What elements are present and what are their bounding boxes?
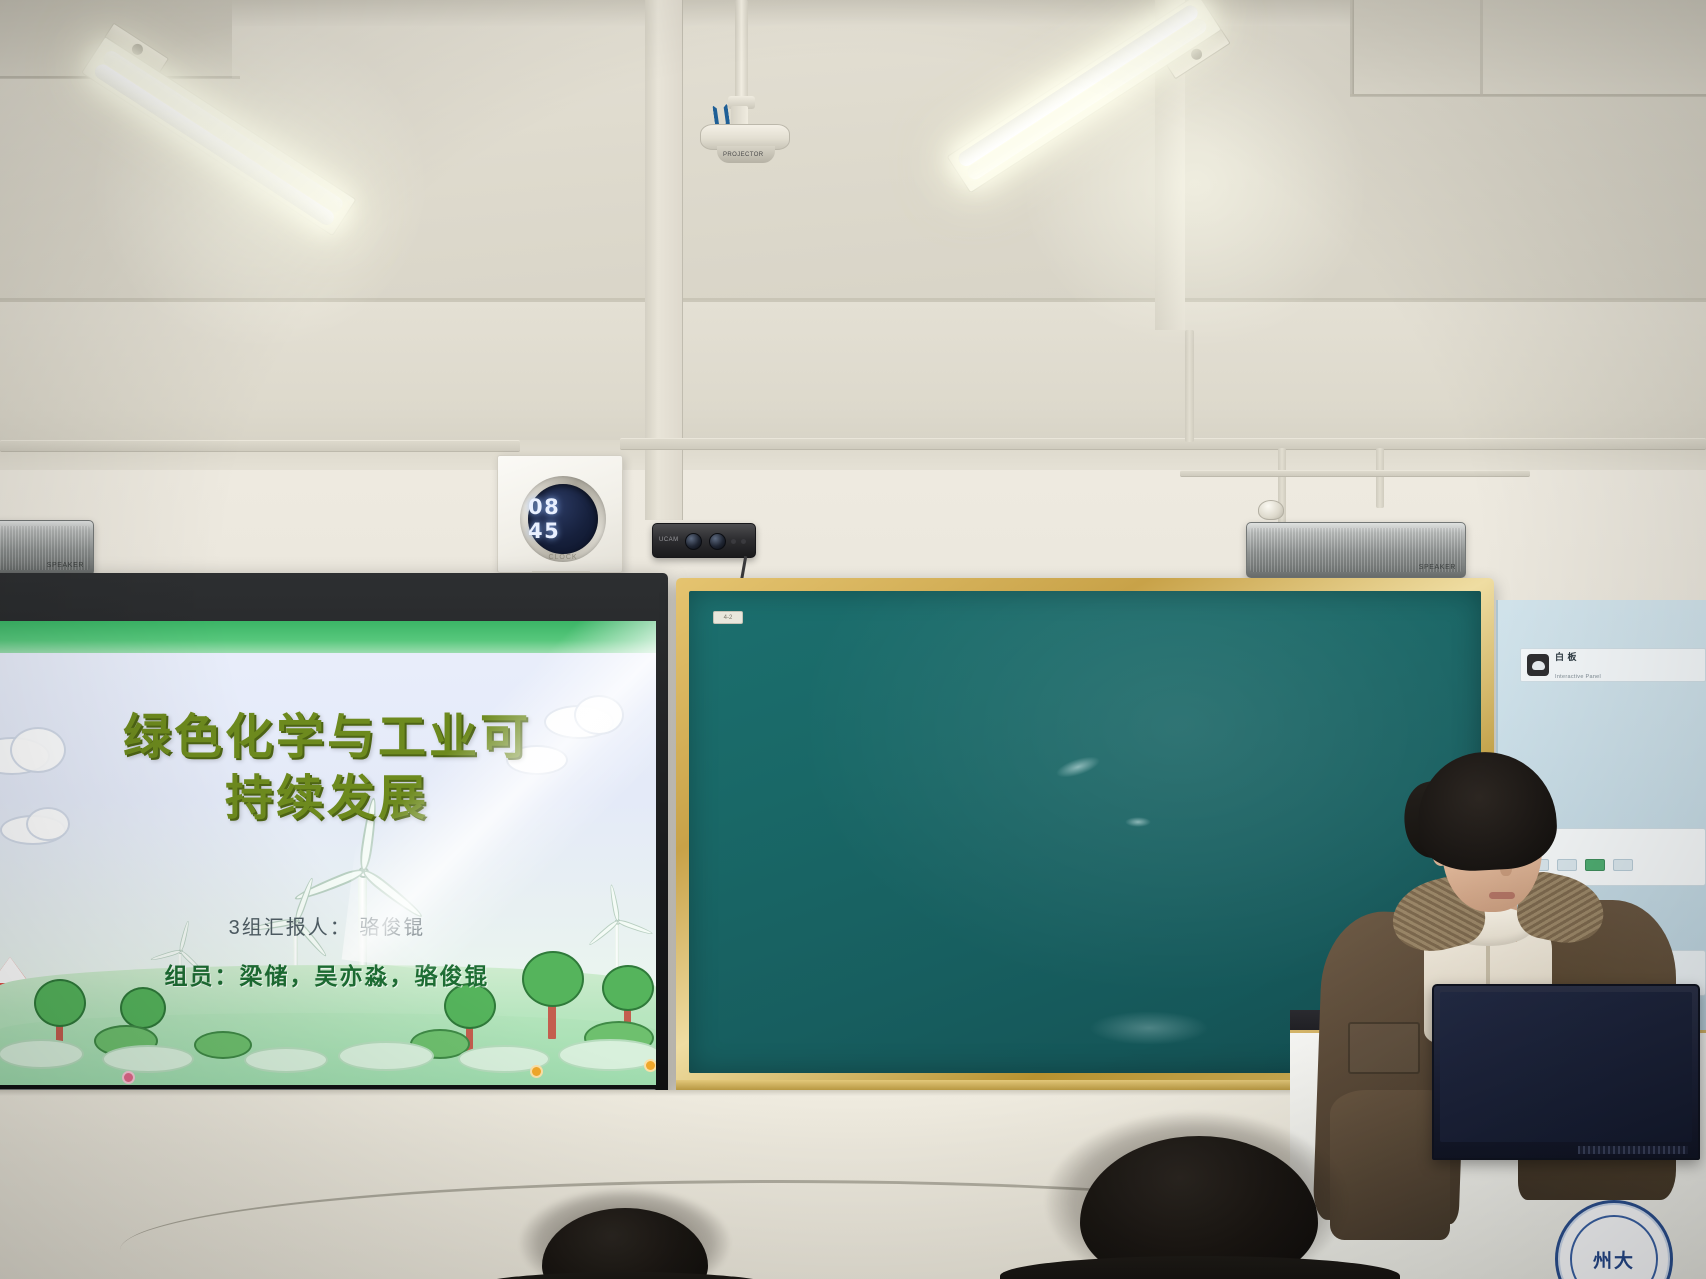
soffit-edge bbox=[0, 298, 1706, 302]
webcam-lens-left bbox=[685, 533, 702, 550]
slide-flower-3 bbox=[646, 1061, 655, 1070]
wall-clock-panel: 08 45 CLOCK bbox=[497, 455, 623, 573]
wall-sign-title: 白 板 bbox=[1555, 652, 1577, 662]
classroom-scene: PROJECTOR 08 45 CLOCK UCAM SPEAKER SPEAK… bbox=[0, 0, 1706, 1279]
ceiling-panel-right bbox=[1352, 0, 1706, 96]
wall-sign: 白 板 Interactive Panel bbox=[1520, 648, 1706, 682]
wall-sign-subtitle: Interactive Panel bbox=[1555, 674, 1601, 680]
slide-members-line: 组员：梁储，吴亦淼，骆俊锟 bbox=[0, 957, 656, 991]
webcam-mic-dot-1 bbox=[731, 539, 736, 544]
slide-bush-8 bbox=[338, 1041, 434, 1071]
chalk-smudge-1 bbox=[1054, 752, 1103, 781]
conduit-pipe-vertical-1 bbox=[1185, 330, 1194, 442]
conduit-pipe-horizontal-low bbox=[1180, 470, 1530, 477]
blackboard-corner-tag: 4-2 bbox=[713, 611, 743, 624]
slide-title-line-1: 绿色化学与工业可 bbox=[0, 707, 656, 768]
slide-bush-5 bbox=[0, 1039, 84, 1069]
slide-presenter-line: 3组汇报人： 骆俊锟 bbox=[0, 911, 656, 940]
presenter-jacket-pocket bbox=[1348, 1022, 1420, 1074]
slide-title: 绿色化学与工业可 持续发展 bbox=[0, 707, 656, 830]
ceiling-seam-3 bbox=[1480, 0, 1483, 96]
speaker-right-label: SPEAKER bbox=[1419, 564, 1456, 571]
smart-board-screen[interactable]: 绿色化学与工业可 持续发展 3组汇报人： 骆俊锟 组员：梁储，吴亦淼，骆俊锟 bbox=[0, 621, 656, 1085]
smart-board[interactable]: 绿色化学与工业可 持续发展 3组汇报人： 骆俊锟 组员：梁储，吴亦淼，骆俊锟 S… bbox=[0, 573, 668, 1143]
slide-title-line-2: 持续发展 bbox=[0, 768, 656, 829]
speaker-left-label: SPEAKER bbox=[47, 562, 84, 569]
projector-mount-pole bbox=[735, 0, 748, 100]
wall-speaker-right: SPEAKER bbox=[1246, 522, 1466, 578]
podium-monitor[interactable] bbox=[1432, 984, 1700, 1160]
university-seal-text: 州大 bbox=[1593, 1246, 1635, 1273]
wall-control-row[interactable] bbox=[1529, 859, 1633, 871]
chalk-smudge-2 bbox=[1125, 817, 1151, 827]
clock-bezel: 08 45 bbox=[520, 476, 606, 562]
ceiling-sensor-dome bbox=[1258, 500, 1284, 520]
clock-sub-label: CLOCK bbox=[528, 554, 598, 561]
slide-bush-7 bbox=[244, 1047, 328, 1073]
ceiling-seam-4 bbox=[1350, 0, 1353, 96]
slide-bush-6 bbox=[102, 1045, 194, 1073]
webcam-brand-label: UCAM bbox=[659, 537, 679, 543]
chalk-smudge-3 bbox=[1089, 1011, 1209, 1045]
conduit-pipe-horizontal-right bbox=[620, 438, 1706, 450]
control-chip-active[interactable] bbox=[1585, 859, 1605, 871]
presenter-mouth bbox=[1489, 892, 1515, 899]
control-chip-3[interactable] bbox=[1613, 859, 1633, 871]
webcam-lens-right bbox=[709, 533, 726, 550]
projector-label: PROJECTOR bbox=[723, 152, 764, 158]
control-chip-2[interactable] bbox=[1557, 859, 1577, 871]
sign-board-icon bbox=[1527, 654, 1549, 676]
podium-monitor-screen[interactable] bbox=[1440, 992, 1692, 1142]
wall-webcam-bar: UCAM bbox=[652, 523, 756, 558]
podium-monitor-vent bbox=[1578, 1146, 1688, 1154]
clock-time-text: 08 45 bbox=[528, 495, 598, 543]
webcam-mic-dot-2 bbox=[741, 539, 746, 544]
conduit-pipe-vertical-3 bbox=[1376, 448, 1384, 508]
clock-face: 08 45 bbox=[528, 484, 598, 554]
slide-flower-1 bbox=[124, 1073, 133, 1082]
slide-bush-10 bbox=[558, 1039, 656, 1071]
slide-top-accent-bar bbox=[0, 621, 656, 653]
wall-speaker-left: SPEAKER bbox=[0, 520, 94, 576]
conduit-pipe-horizontal-left bbox=[0, 440, 520, 452]
ceiling-seam-2 bbox=[1350, 94, 1706, 97]
university-seal-inner-ring: 州大 bbox=[1570, 1215, 1658, 1279]
slide-bush-2 bbox=[194, 1031, 252, 1059]
slide-flower-2 bbox=[532, 1067, 541, 1076]
